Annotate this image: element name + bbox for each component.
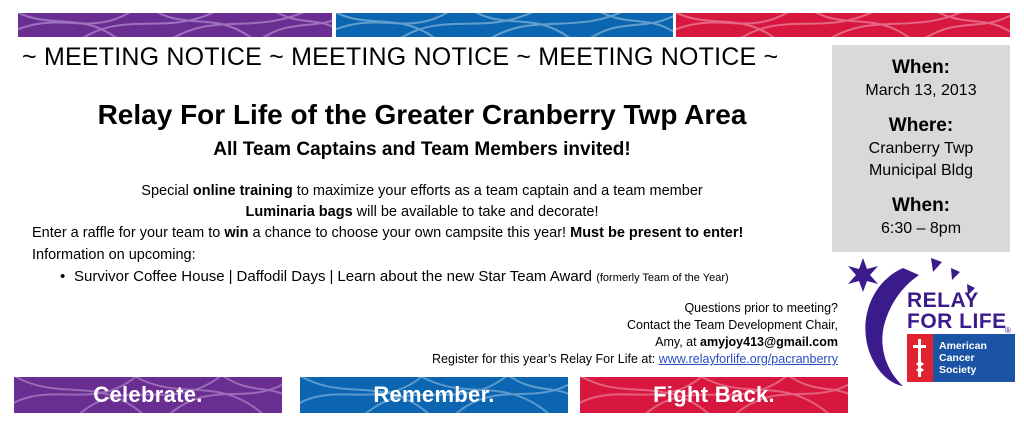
registration-link[interactable]: www.relayforlife.org/pacranberry: [659, 352, 838, 366]
event-separator-2: |: [325, 268, 337, 285]
acs-line-society: Society: [939, 364, 987, 376]
banner-fightback-label: Fight Back.: [580, 377, 848, 413]
acs-wordmark: American Cancer Society: [939, 340, 987, 376]
page-subtitle: All Team Captains and Team Members invit…: [22, 138, 822, 162]
swirl-pattern-icon: [676, 13, 1010, 37]
contact-email[interactable]: amyjoy413@gmail.com: [700, 335, 838, 349]
banner-celebrate-label: Celebrate.: [14, 377, 282, 413]
star-icon: [848, 258, 878, 292]
registration-row: Register for this year’s Relay For Life …: [432, 351, 838, 368]
swirl-pattern-icon: [18, 13, 332, 37]
training-text-bold: online training: [193, 183, 293, 199]
sidebar-where-value-line1: Cranberry Twp: [832, 138, 1010, 160]
meeting-notice-banner-text: ~ MEETING NOTICE ~ MEETING NOTICE ~ MEET…: [22, 42, 822, 72]
sidebar-when-label: When:: [832, 55, 1010, 80]
sidebar-spacer-2: [832, 182, 1010, 193]
contact-question: Questions prior to meeting?: [627, 300, 838, 317]
spark-2-icon: [951, 268, 960, 280]
body-line-training: Special online training to maximize your…: [22, 182, 822, 201]
bullet-dot-icon: •: [60, 267, 74, 287]
event-separator-1: |: [225, 268, 237, 285]
contact-chair: Contact the Team Development Chair,: [627, 317, 838, 334]
body-line-raffle: Enter a raffle for your team to win a ch…: [32, 224, 822, 243]
swirl-pattern-icon: [336, 13, 673, 37]
sidebar-when-value: March 13, 2013: [832, 80, 1010, 102]
contact-email-row: Amy, at amyjoy413@gmail.com: [627, 334, 838, 351]
relay-logo-line2: FOR LIFE: [907, 311, 1007, 332]
banner-remember: Remember.: [300, 377, 568, 413]
acs-line-cancer: Cancer: [939, 352, 987, 364]
sidebar-where-label: Where:: [832, 113, 1010, 138]
top-ribbon-purple: [18, 13, 332, 37]
training-text-post: to maximize your efforts as a team capta…: [293, 183, 703, 199]
raffle-text-pre: Enter a raffle for your team to: [32, 225, 224, 241]
body-line-upcoming-label: Information on upcoming:: [32, 246, 822, 265]
spark-1-icon: [931, 258, 942, 272]
acs-line-american: American: [939, 340, 987, 352]
list-item-upcoming-events: •Survivor Coffee House|Daffodil Days|Lea…: [60, 267, 729, 288]
event-details-sidebar: When: March 13, 2013 Where: Cranberry Tw…: [832, 45, 1010, 252]
contact-name: Amy, at: [655, 335, 700, 349]
raffle-text-win: win: [224, 225, 248, 241]
banner-celebrate: Celebrate.: [14, 377, 282, 413]
relay-for-life-logo: RELAY FOR LIFE ® American Cancer Society: [845, 252, 1024, 387]
relay-logo-wordmark: RELAY FOR LIFE: [907, 290, 1007, 332]
banner-fight-back: Fight Back.: [580, 377, 848, 413]
event-star-team-award: Learn about the new Star Team Award: [337, 268, 592, 285]
page-title: Relay For Life of the Greater Cranberry …: [22, 98, 822, 132]
sidebar-spacer-1: [832, 102, 1010, 113]
acs-red-panel: [907, 334, 933, 382]
top-ribbon-blue: [336, 13, 673, 37]
flyer-canvas: ~ MEETING NOTICE ~ MEETING NOTICE ~ MEET…: [0, 0, 1024, 432]
sidebar-time-value: 6:30 – 8pm: [832, 218, 1010, 240]
luminaria-text-bold: Luminaria bags: [245, 204, 352, 220]
banner-remember-label: Remember.: [300, 377, 568, 413]
relay-logo-line1: RELAY: [907, 290, 1007, 311]
body-line-luminaria: Luminaria bags will be available to take…: [22, 203, 822, 222]
top-ribbon-red: [676, 13, 1010, 37]
sidebar-time-label: When:: [832, 193, 1010, 218]
registration-label: Register for this year’s Relay For Life …: [432, 352, 659, 366]
event-daffodil-days: Daffodil Days: [237, 268, 326, 285]
acs-sword-icon: [907, 334, 933, 382]
contact-block: Questions prior to meeting? Contact the …: [627, 300, 838, 351]
raffle-text-mid: a chance to choose your own campsite thi…: [249, 225, 571, 241]
raffle-text-warning: Must be present to enter!: [570, 225, 743, 241]
event-survivor-coffee-house: Survivor Coffee House: [74, 268, 225, 285]
event-star-team-award-note: (formerly Team of the Year): [596, 272, 728, 284]
sidebar-where-value-line2: Municipal Bldg: [832, 160, 1010, 182]
luminaria-text-post: will be available to take and decorate!: [353, 204, 599, 220]
training-text-pre: Special: [141, 183, 193, 199]
american-cancer-society-logo: American Cancer Society: [907, 334, 1015, 382]
